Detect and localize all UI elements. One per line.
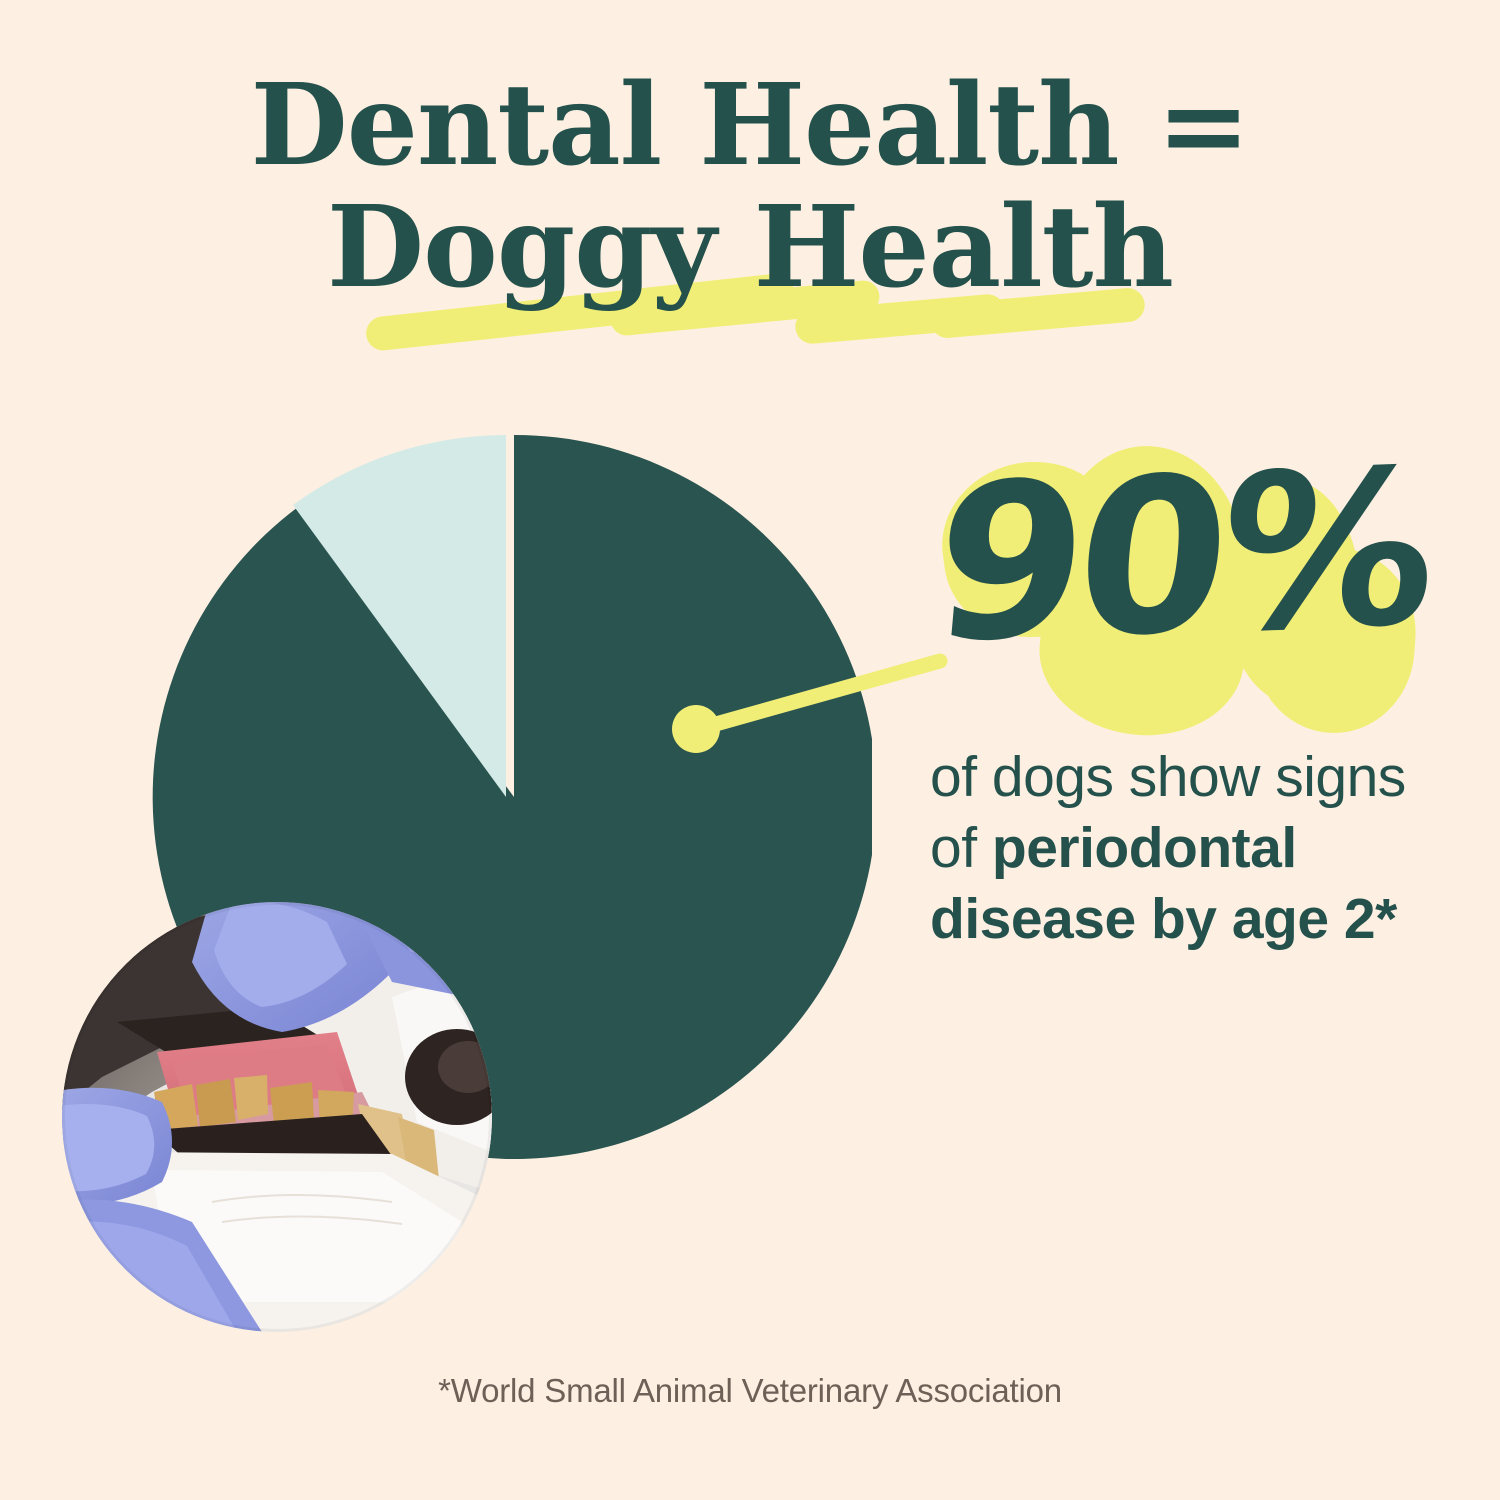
big-stat: 90% xyxy=(925,440,1445,720)
source-footnote: *World Small Animal Veterinary Associati… xyxy=(0,1372,1500,1410)
stat-block: 90% xyxy=(925,440,1445,720)
title-line-2-text: Doggy Health xyxy=(327,182,1173,313)
stat-description-strong: periodontal disease by age 2* xyxy=(930,816,1397,951)
title-line-1: Dental Health = xyxy=(0,68,1500,184)
title-line-1-text: Dental Health = xyxy=(251,60,1250,191)
infographic-canvas: Dental Health = Doggy Health xyxy=(0,0,1500,1500)
title-line-2: Doggy Health xyxy=(0,190,1500,306)
vet-dog-teeth-photo xyxy=(62,902,492,1332)
title-block: Dental Health = Doggy Health xyxy=(0,68,1500,306)
stat-percentage: 90% xyxy=(905,422,1440,673)
stat-description: of dogs show signs of periodontal diseas… xyxy=(930,742,1430,955)
